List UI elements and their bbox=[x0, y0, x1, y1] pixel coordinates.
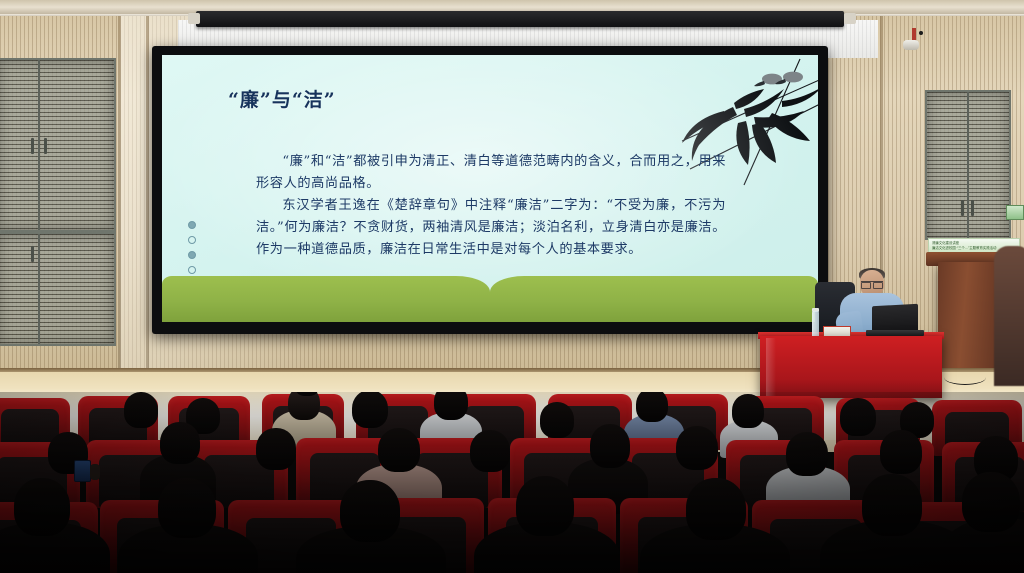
bullet-dot-3 bbox=[188, 251, 196, 259]
cabinet-right[interactable] bbox=[925, 90, 1011, 240]
cabinet-split-line bbox=[38, 60, 40, 230]
lecture-hall-screenshot: “廉”与“洁” “廉”和“洁”都被引申为清正、清白等道德范畴内的含义，合而用之，… bbox=[0, 0, 1024, 573]
audience-head bbox=[590, 424, 630, 468]
book-page-left bbox=[162, 276, 490, 322]
audience-head bbox=[840, 398, 876, 436]
audience-head bbox=[288, 392, 320, 420]
audience-head bbox=[516, 476, 574, 536]
book-page-right bbox=[490, 276, 818, 322]
cabinet-handle-4[interactable] bbox=[961, 200, 964, 216]
wall-exit-sign bbox=[1006, 205, 1024, 220]
cabinet-handle-3[interactable] bbox=[31, 246, 34, 262]
audience-phone-screen bbox=[74, 460, 91, 482]
cabinet-left-lower[interactable] bbox=[0, 232, 116, 346]
slide-paragraph-2: 东汉学者王逸在《楚辞章句》中注释“廉洁”二字为：“不受为廉，不污为洁。”何为廉洁… bbox=[256, 195, 726, 261]
presentation-slide: “廉”与“洁” “廉”和“洁”都被引申为清正、清白等道德范畴内的含义，合而用之，… bbox=[162, 55, 818, 322]
cabinet-split-line-3 bbox=[967, 92, 969, 238]
audience-head bbox=[14, 478, 70, 536]
slide-title: “廉”与“洁” bbox=[228, 85, 336, 112]
roller-cap-left bbox=[188, 13, 200, 24]
speaker-table bbox=[760, 336, 942, 398]
bullet-dot-2 bbox=[188, 236, 196, 244]
audience-head bbox=[352, 392, 388, 428]
cabinet-handle-5[interactable] bbox=[971, 200, 974, 216]
audience-head bbox=[636, 392, 668, 422]
slide-paragraph-1: “廉”和“洁”都被引申为清正、清白等道德范畴内的含义，合而用之，用来形容人的高尚… bbox=[256, 151, 726, 195]
audience-head bbox=[160, 422, 200, 464]
audience-head bbox=[732, 394, 764, 428]
audience-head bbox=[124, 392, 158, 428]
roller-cap-right bbox=[844, 13, 856, 24]
audience-head bbox=[256, 428, 296, 470]
cabinet-split-line-2 bbox=[38, 234, 40, 344]
audience-head bbox=[880, 430, 922, 474]
glasses-icon bbox=[861, 281, 883, 287]
wall-seam-left-2 bbox=[146, 16, 149, 380]
audience-head bbox=[158, 478, 216, 538]
cabinet-handle-2[interactable] bbox=[44, 138, 47, 154]
security-camera-icon bbox=[903, 40, 919, 50]
audience-head bbox=[686, 478, 746, 540]
standing-person-right-edge bbox=[994, 246, 1024, 386]
audience-head bbox=[540, 402, 574, 438]
power-cable bbox=[944, 370, 986, 385]
projector-screen-roller bbox=[196, 11, 844, 27]
slide-bullet-dots bbox=[188, 221, 196, 274]
cabinet-left-upper[interactable] bbox=[0, 58, 116, 232]
wall-seam-left bbox=[118, 16, 121, 380]
bullet-dot-1 bbox=[188, 221, 196, 229]
projection-screen-frame: “廉”与“洁” “廉”和“洁”都被引申为清正、清白等道德范畴内的含义，合而用之，… bbox=[152, 46, 828, 334]
audience-head bbox=[470, 430, 510, 472]
camera-indicator-dot bbox=[919, 31, 923, 35]
audience-area bbox=[0, 392, 1024, 573]
cabinet-handle[interactable] bbox=[31, 138, 34, 154]
water-bottle bbox=[812, 311, 819, 339]
audience-head bbox=[676, 426, 718, 470]
audience-head bbox=[862, 474, 922, 536]
slide-body-text: “廉”和“洁”都被引申为清正、清白等道德范畴内的含义，合而用之，用来形容人的高尚… bbox=[256, 151, 726, 261]
tablecloth-fold bbox=[766, 338, 776, 396]
audience-head bbox=[378, 428, 420, 472]
audience-hand bbox=[90, 464, 100, 480]
audience-head bbox=[786, 432, 828, 476]
slide-footer-book-graphic bbox=[162, 268, 818, 322]
audience-head bbox=[340, 480, 400, 542]
projection-screen: “廉”与“洁” “廉”和“洁”都被引申为清正、清白等道德范畴内的含义，合而用之，… bbox=[162, 55, 818, 322]
audience-head bbox=[962, 472, 1020, 532]
audience-head bbox=[434, 392, 468, 420]
